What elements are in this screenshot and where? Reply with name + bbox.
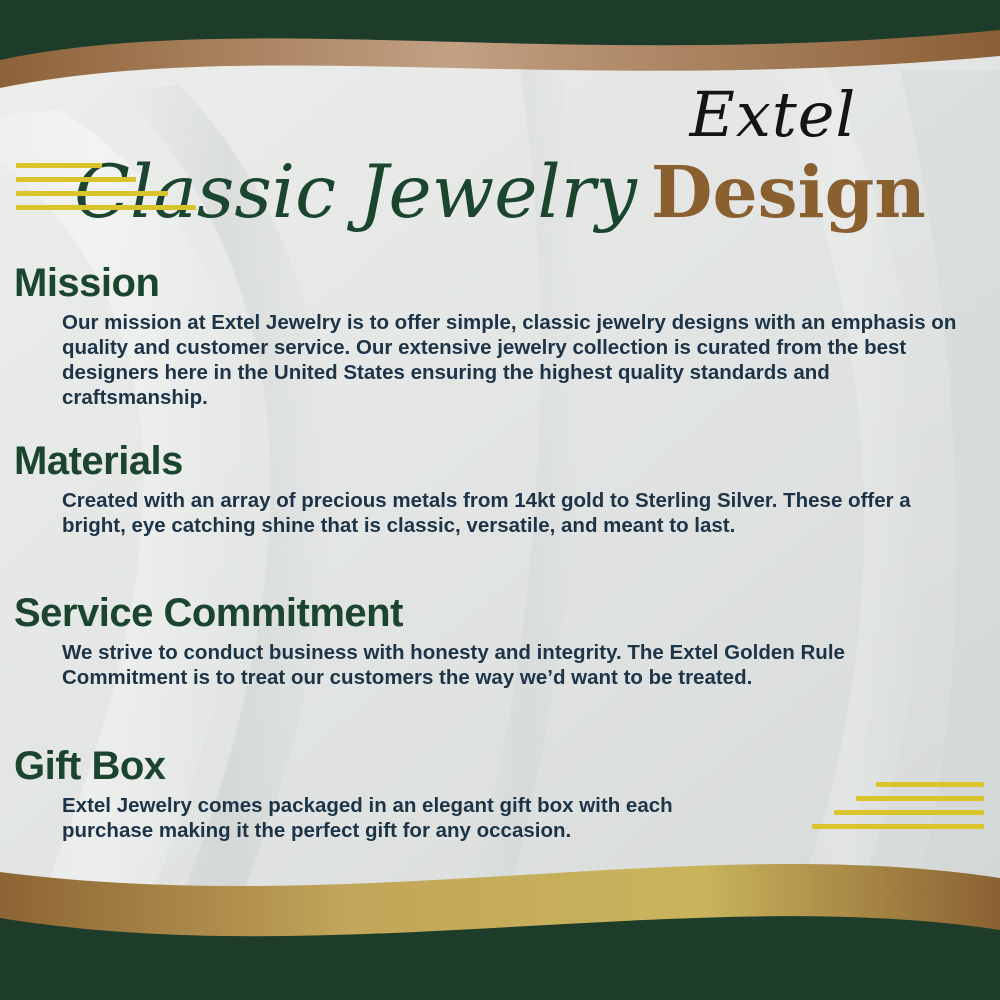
section-mission: Mission Our mission at Extel Jewelry is … <box>14 262 974 410</box>
brand-wordmark: Extel <box>608 78 938 151</box>
headline-bold: Design <box>651 150 926 234</box>
section-title: Materials <box>14 440 974 482</box>
section-service-commitment: Service Commitment We strive to conduct … <box>14 592 974 690</box>
section-materials: Materials Created with an array of preci… <box>14 440 974 538</box>
accent-lines-top <box>16 163 196 219</box>
section-body: Our mission at Extel Jewelry is to offer… <box>62 310 972 410</box>
section-body: Extel Jewelry comes packaged in an elega… <box>62 793 762 843</box>
poster-canvas: Extel Classic JewelryDesign Mission Our … <box>0 0 1000 1000</box>
section-title: Mission <box>14 262 974 304</box>
section-title: Service Commitment <box>14 592 974 634</box>
poster-content: Extel Classic JewelryDesign Mission Our … <box>0 0 1000 1000</box>
section-body: Created with an array of precious metals… <box>62 488 972 538</box>
section-gift-box: Gift Box Extel Jewelry comes packaged in… <box>14 745 974 843</box>
section-body: We strive to conduct business with hones… <box>62 640 972 690</box>
section-title: Gift Box <box>14 745 974 787</box>
